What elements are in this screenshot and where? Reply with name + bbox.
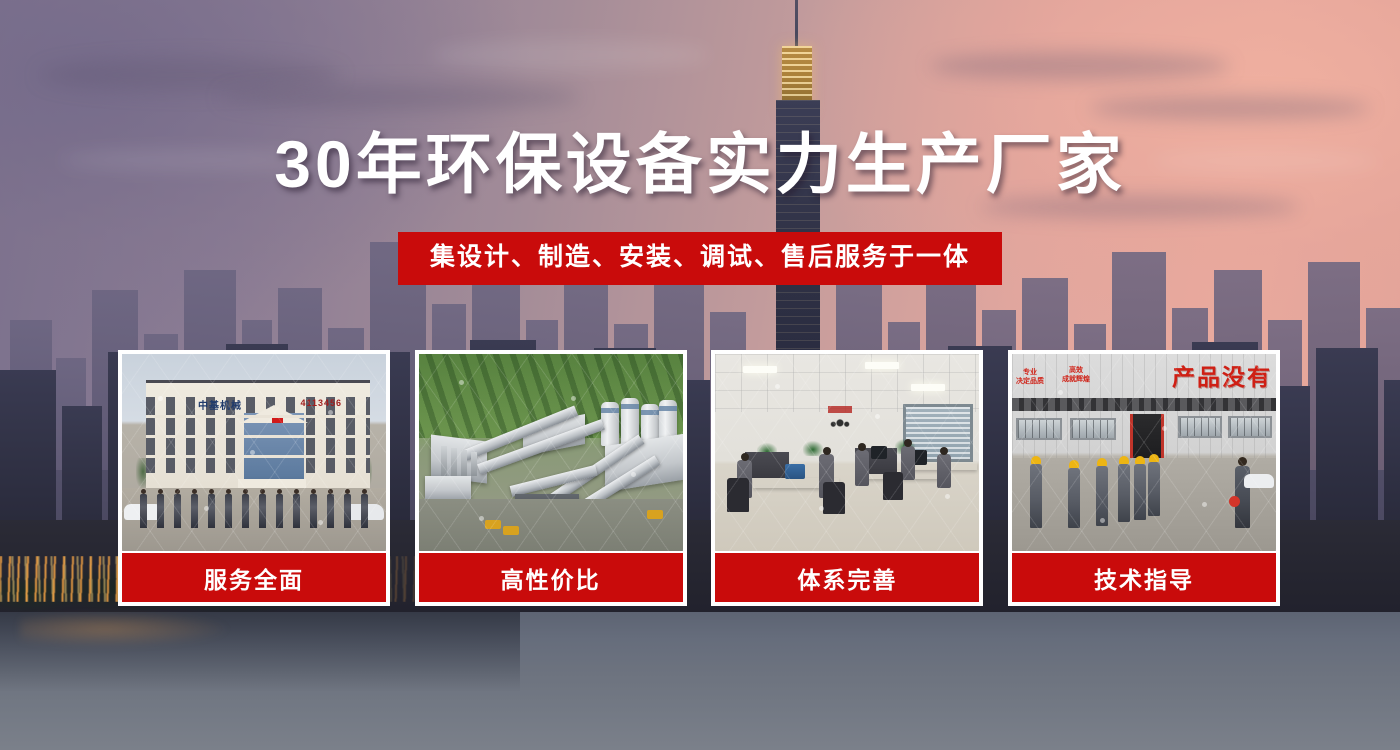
building-phone-text: 4113456 — [300, 398, 342, 408]
card-photo-headquarters: 中基机械 4113456 — [122, 354, 386, 551]
card-caption-guidance: 技术指导 — [1012, 551, 1276, 602]
factory-wall-text: 产品没有 — [1172, 358, 1272, 392]
promo-banner: 30年环保设备实力生产厂家 集设计、制造、安装、调试、售后服务于一体 中基机械 … — [0, 0, 1400, 750]
card-photo-plant-aerial — [419, 354, 683, 551]
subtitle-container: 集设计、制造、安装、调试、售后服务于一体 — [0, 232, 1400, 285]
tower-spire — [795, 0, 798, 50]
card-photo-office-interior — [715, 354, 979, 551]
feature-card-value[interactable]: 高性价比 — [415, 350, 687, 606]
building-sign-text: 中基机械 — [198, 397, 242, 412]
page-title: 30年环保设备实力生产厂家 — [0, 128, 1400, 201]
factory-slogan-3: 高效 — [1069, 367, 1083, 374]
card-caption-system: 体系完善 — [715, 551, 979, 602]
factory-slogan-2: 决定品质 — [1016, 378, 1044, 385]
subtitle-banner: 集设计、制造、安装、调试、售后服务于一体 — [398, 232, 1002, 285]
factory-slogan-4: 成就辉煌 — [1062, 376, 1090, 383]
factory-door — [1130, 414, 1164, 460]
factory-slogan-1: 专业 — [1023, 369, 1037, 376]
river-light-reflection — [20, 614, 360, 664]
card-photo-worker-briefing: 产品没有 专业 决定品质 高效 成就辉煌 — [1012, 354, 1276, 551]
wall-decal — [819, 406, 861, 432]
feature-card-service[interactable]: 中基机械 4113456 — [118, 350, 390, 606]
feature-card-row: 中基机械 4113456 — [118, 350, 1280, 606]
feature-card-system[interactable]: 体系完善 — [711, 350, 983, 606]
feature-card-guidance[interactable]: 产品没有 专业 决定品质 高效 成就辉煌 — [1008, 350, 1280, 606]
card-caption-value: 高性价比 — [419, 551, 683, 602]
card-caption-service: 服务全面 — [122, 551, 386, 602]
